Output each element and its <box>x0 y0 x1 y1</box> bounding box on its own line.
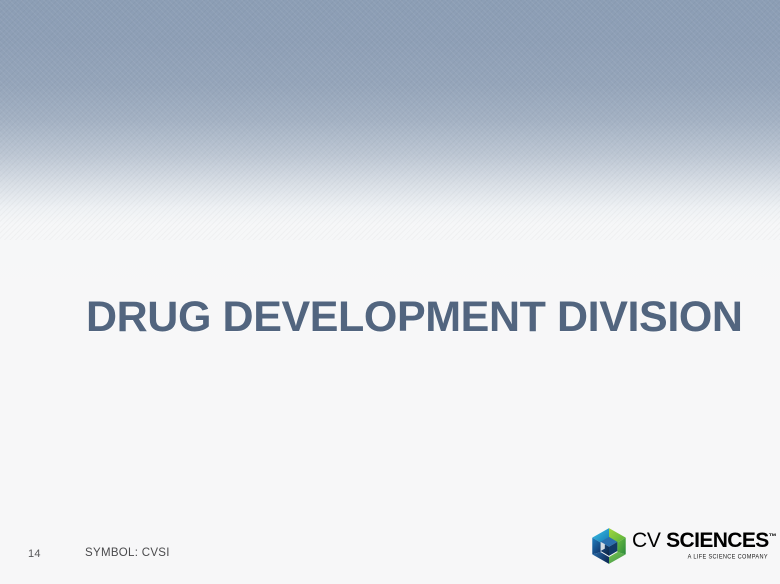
company-wordmark: CV SCIENCES™ A LIFE SCIENCE COMPANY <box>632 530 776 564</box>
wordmark-cv: CV <box>632 529 666 552</box>
wordmark-line: CV SCIENCES™ <box>632 530 776 551</box>
trademark-symbol: ™ <box>769 532 777 541</box>
ticker-symbol-label: SYMBOL: CVSI <box>85 547 170 559</box>
page-title: DRUG DEVELOPMENT DIVISION <box>86 295 743 340</box>
slide-background-gradient <box>0 0 780 584</box>
company-logo: CV SCIENCES™ A LIFE SCIENCE COMPANY <box>590 524 776 570</box>
company-tagline: A LIFE SCIENCE COMPANY <box>632 554 768 560</box>
wordmark-sciences: SCIENCES <box>666 529 769 552</box>
slide-page-number: 14 <box>28 548 41 560</box>
presentation-slide: DRUG DEVELOPMENT DIVISION 14 SYMBOL: CVS… <box>0 0 780 584</box>
cv-sciences-hex-cube-icon <box>590 527 628 565</box>
